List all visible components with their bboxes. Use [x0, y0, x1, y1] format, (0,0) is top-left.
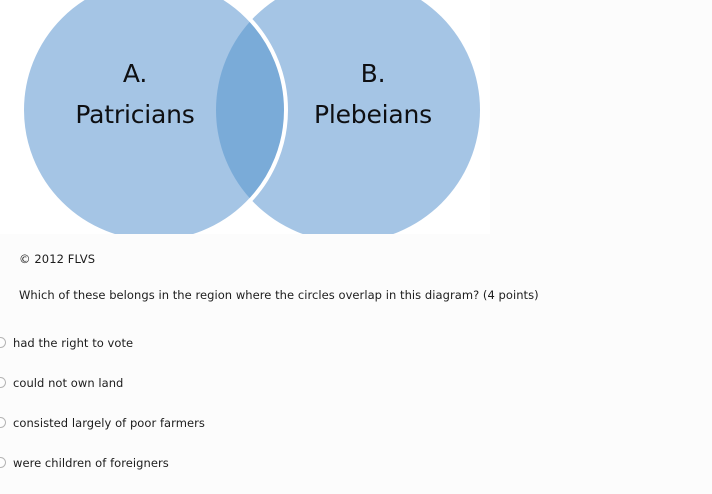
answer-options-list: had the right to vote could not own land… [0, 334, 712, 494]
option-row-1[interactable]: had the right to vote [0, 334, 712, 374]
option-row-3[interactable]: consisted largely of poor farmers [0, 414, 712, 454]
radio-button-icon[interactable] [0, 377, 6, 388]
option-label-4[interactable]: were children of foreigners [13, 456, 169, 470]
radio-button-icon[interactable] [0, 417, 6, 428]
option-label-1[interactable]: had the right to vote [13, 336, 133, 350]
copyright-text: © 2012 FLVS [19, 252, 95, 266]
question-text: Which of these belongs in the region whe… [19, 288, 539, 302]
option-label-2[interactable]: could not own land [13, 376, 123, 390]
option-row-4[interactable]: were children of foreigners [0, 454, 712, 494]
radio-button-icon[interactable] [0, 457, 6, 468]
venn-diagram-svg [0, 0, 490, 234]
option-row-2[interactable]: could not own land [0, 374, 712, 414]
option-label-3[interactable]: consisted largely of poor farmers [13, 416, 205, 430]
radio-button-icon[interactable] [0, 337, 6, 348]
venn-diagram-image: A. Patricians B. Plebeians [0, 0, 490, 234]
